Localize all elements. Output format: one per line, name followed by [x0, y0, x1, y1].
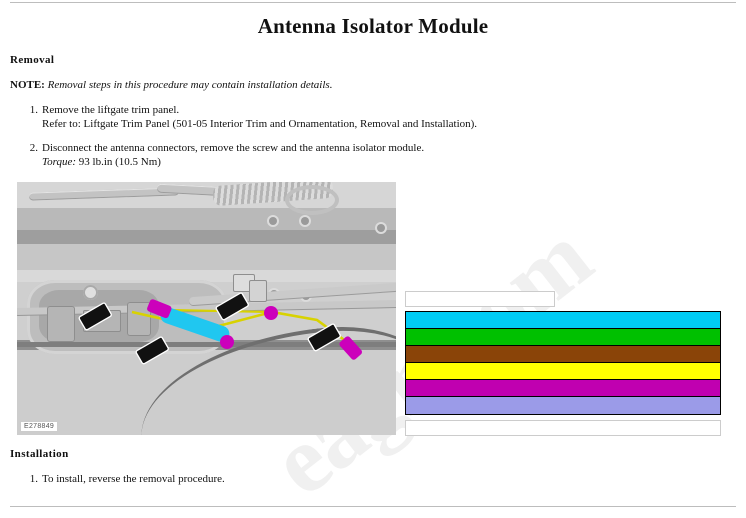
section-heading-removal: Removal	[10, 54, 54, 66]
page-title: Antenna Isolator Module	[0, 14, 746, 39]
legend-bar-yellow[interactable]	[406, 363, 720, 380]
legend-panel	[405, 291, 721, 436]
legend-bar-stack	[405, 311, 721, 415]
step-torque: Torque: 93 lb.in (10.5 Nm)	[42, 155, 477, 169]
note-block: NOTE: Removal steps in this procedure ma…	[10, 79, 332, 91]
step-number: 1.	[22, 103, 38, 117]
legend-top-field[interactable]	[405, 291, 555, 307]
callout-marker-4	[308, 323, 341, 351]
removal-step-1: 1. Remove the liftgate trim panel. Refer…	[10, 103, 477, 132]
callout-marker-2	[136, 336, 169, 364]
step-reference: Refer to: Liftgate Trim Panel (501-05 In…	[42, 117, 477, 131]
torque-label: Torque:	[42, 156, 76, 168]
step-text: Disconnect the antenna connectors, remov…	[42, 141, 477, 155]
document-content: Antenna Isolator Module Removal NOTE: Re…	[0, 0, 746, 518]
antenna-connector-highlight	[220, 335, 234, 349]
step-number: 1.	[22, 472, 38, 486]
legend-bottom-field[interactable]	[405, 420, 721, 436]
figure-callout-overlay	[17, 182, 396, 435]
callout-marker-3	[216, 292, 249, 320]
figure-antenna-isolator: E278849	[17, 182, 396, 435]
antenna-connector-highlight	[264, 306, 278, 320]
callout-marker-1	[79, 302, 112, 330]
note-label: NOTE:	[10, 79, 45, 91]
legend-bar-green[interactable]	[406, 329, 720, 346]
step-number: 2.	[22, 141, 38, 155]
legend-bar-magenta[interactable]	[406, 380, 720, 397]
figure-id-label: E278849	[20, 421, 58, 432]
legend-bar-cyan[interactable]	[406, 312, 720, 329]
note-text: Removal steps in this procedure may cont…	[48, 79, 333, 91]
removal-step-2: 2. Disconnect the antenna connectors, re…	[10, 141, 477, 170]
step-text: Remove the liftgate trim panel.	[42, 103, 477, 117]
installation-step-list: 1. To install, reverse the removal proce…	[10, 472, 225, 495]
removal-step-list: 1. Remove the liftgate trim panel. Refer…	[10, 103, 477, 178]
torque-value: 93 lb.in (10.5 Nm)	[76, 156, 161, 168]
section-heading-installation: Installation	[10, 448, 69, 460]
legend-bar-periwinkle[interactable]	[406, 397, 720, 414]
installation-step-1: 1. To install, reverse the removal proce…	[10, 472, 225, 486]
legend-bar-brown[interactable]	[406, 346, 720, 363]
step-text: To install, reverse the removal procedur…	[42, 472, 225, 486]
